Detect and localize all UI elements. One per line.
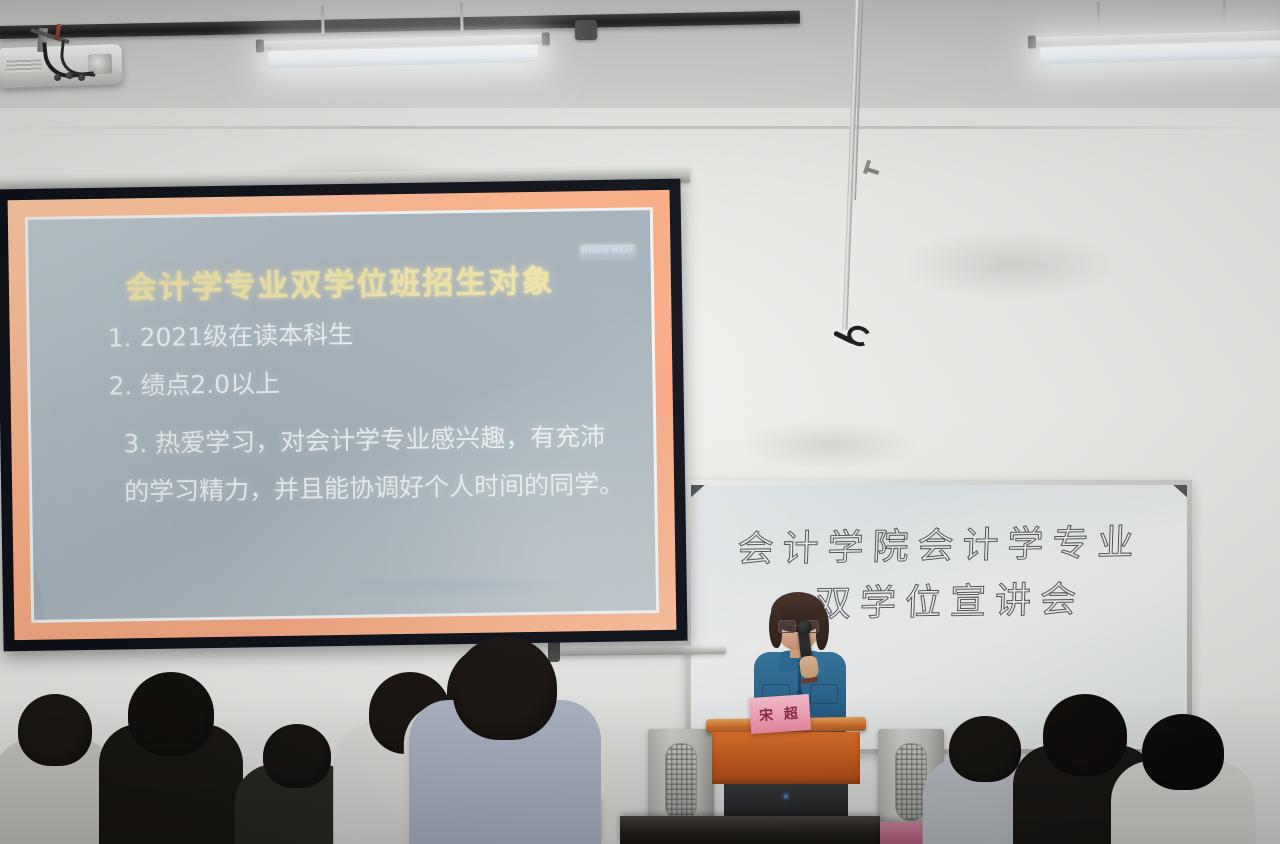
- classroom-photo-scene: 会计学院会计学专业 双学位宣讲会 会计学专业双学位班招生对象 Double Ma…: [0, 0, 1280, 844]
- slide-inner-border: 会计学专业双学位班招生对象 Double Major 1. 2021级在读本科生…: [25, 207, 659, 623]
- podium-indicator-led: [784, 794, 789, 799]
- ceiling-projector: [0, 28, 130, 90]
- audience-head: [453, 636, 557, 740]
- slide-body: 1. 2021级在读本科生 2. 绩点2.0以上 3. 热爱学习，对会计学专业感…: [65, 307, 628, 518]
- nameplate: 宋 超: [749, 694, 811, 734]
- whiteboard-line-1: 会计学院会计学专业: [691, 515, 1189, 579]
- presentation-slide: 会计学专业双学位班招生对象 Double Major 1. 2021级在读本科生…: [28, 210, 656, 620]
- wall-hook: [865, 160, 881, 174]
- student-desk: [620, 816, 880, 844]
- audience-head: [18, 694, 92, 766]
- slide-bullet-2: 2. 绩点2.0以上: [66, 355, 627, 412]
- audience-head: [263, 724, 331, 788]
- audience-9: [405, 636, 605, 844]
- wall-seam: [0, 126, 1280, 129]
- speaker-grille-icon: [665, 743, 697, 821]
- audience-8: [1108, 714, 1258, 844]
- screen-pull-rod[interactable]: [845, 0, 875, 360]
- slide-outer-border: 会计学专业双学位班招生对象 Double Major 1. 2021级在读本科生…: [8, 190, 677, 640]
- slide-bullet-1: 1. 2021级在读本科生: [65, 307, 626, 364]
- audience-2: [96, 672, 246, 844]
- slide-title: 会计学专业双学位班招生对象: [29, 254, 652, 309]
- fluorescent-light-left: [258, 26, 549, 71]
- slide-badge: Double Major: [580, 244, 634, 258]
- projection-screen-assembly: 会计学专业双学位班招生对象 Double Major 1. 2021级在读本科生…: [0, 172, 690, 652]
- slide-bullet-3: 3. 热爱学习，对会计学专业感兴趣，有充沛的学习精力，并且能协调好个人时间的同学…: [67, 413, 628, 518]
- fluorescent-light-right: [1030, 22, 1280, 67]
- screen-bezel: 会计学专业双学位班招生对象 Double Major 1. 2021级在读本科生…: [0, 179, 688, 652]
- beam-clip: [575, 20, 597, 40]
- audience-head: [128, 672, 214, 756]
- rod-hook-icon: [833, 326, 867, 352]
- audience-head: [1142, 714, 1224, 790]
